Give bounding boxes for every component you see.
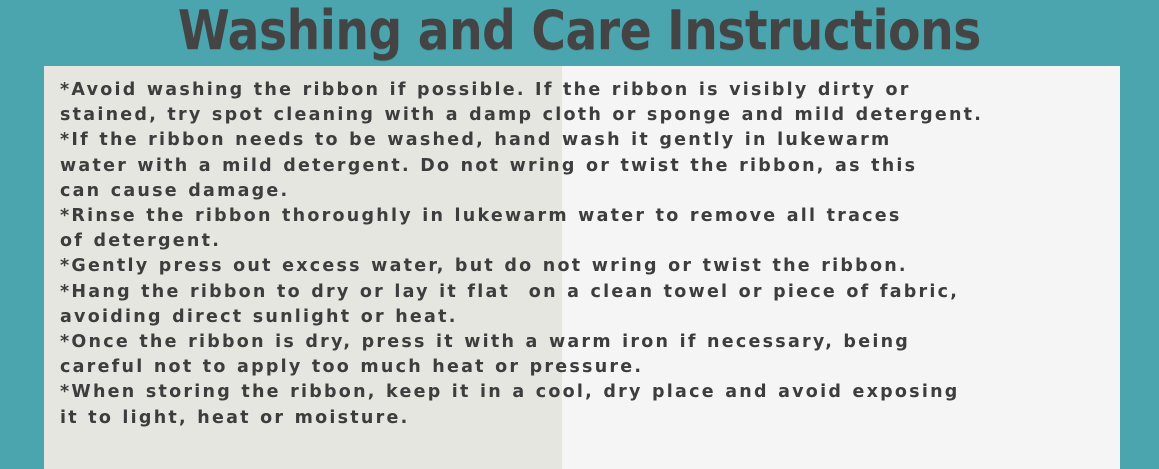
instructions-text-block: *Avoid washing the ribbon if possible. I… bbox=[60, 78, 1114, 431]
instruction-item-press-out-water: *Gently press out excess water, but do n… bbox=[60, 254, 1114, 279]
poster-canvas: Washing and Care Instructions *Avoid was… bbox=[0, 0, 1159, 469]
page-title: Washing and Care Instructions bbox=[178, 2, 981, 60]
instruction-item-rinse-cont: of detergent. bbox=[60, 229, 1114, 254]
instruction-item-hand-wash-cont: can cause damage. bbox=[60, 179, 1114, 204]
instruction-item-hand-wash-cont: water with a mild detergent. Do not wrin… bbox=[60, 154, 1114, 179]
instruction-item-iron: *Once the ribbon is dry, press it with a… bbox=[60, 330, 1114, 355]
instruction-item-avoid-washing-cont: stained, try spot cleaning with a damp c… bbox=[60, 103, 1114, 128]
instruction-item-rinse: *Rinse the ribbon thoroughly in lukewarm… bbox=[60, 204, 1114, 229]
title-bar: Washing and Care Instructions bbox=[0, 0, 1159, 66]
instruction-item-dry-cont: avoiding direct sunlight or heat. bbox=[60, 305, 1114, 330]
instruction-item-dry: *Hang the ribbon to dry or lay it flat o… bbox=[60, 280, 1114, 305]
instruction-item-iron-cont: careful not to apply too much heat or pr… bbox=[60, 355, 1114, 380]
instruction-item-avoid-washing: *Avoid washing the ribbon if possible. I… bbox=[60, 78, 1114, 103]
instruction-item-storage: *When storing the ribbon, keep it in a c… bbox=[60, 380, 1114, 405]
instruction-item-storage-cont: it to light, heat or moisture. bbox=[60, 406, 1114, 431]
instruction-item-hand-wash: *If the ribbon needs to be washed, hand … bbox=[60, 128, 1114, 153]
instructions-panel: *Avoid washing the ribbon if possible. I… bbox=[44, 66, 1120, 469]
